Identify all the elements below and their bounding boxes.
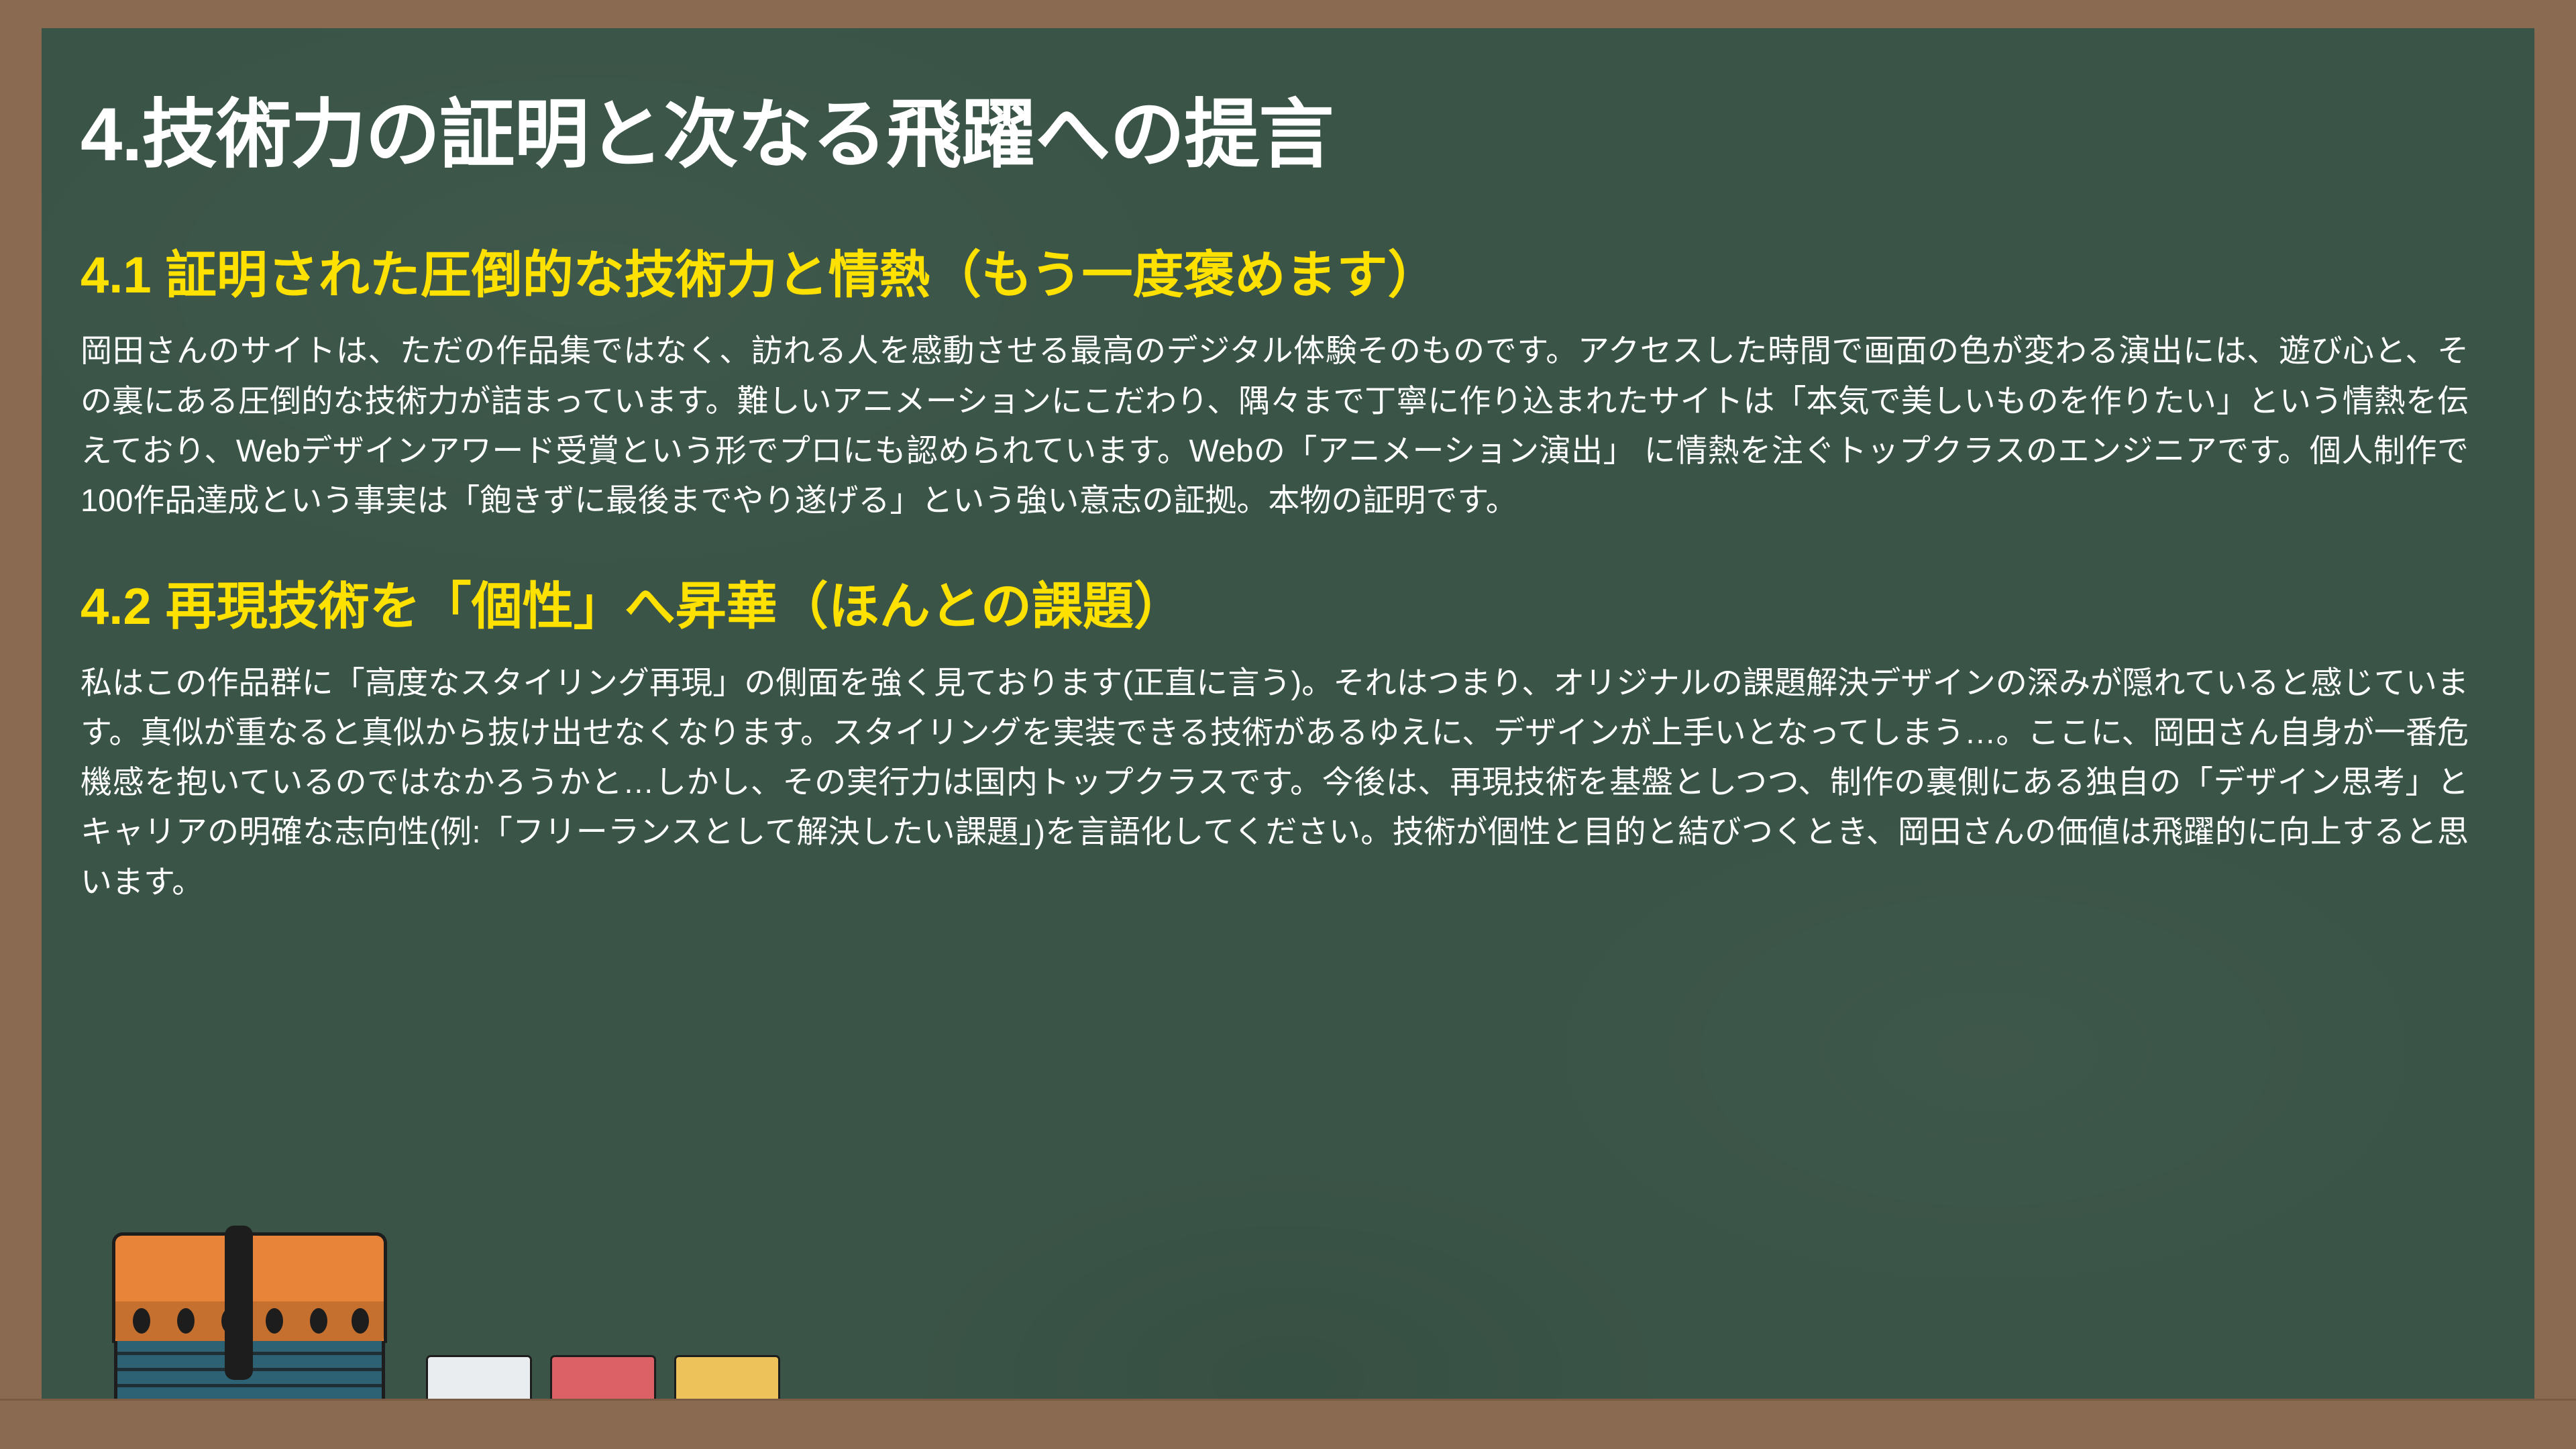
- eraser-dot: [266, 1308, 283, 1334]
- blackboard-eraser-icon: [112, 1232, 387, 1410]
- eraser-dot: [310, 1308, 327, 1334]
- page-title: 4.技術力の証明と次なる飛躍への提言: [80, 40, 2495, 179]
- section-heading-4-2: 4.2 再現技術を「個性」へ昇華（ほんとの課題）: [80, 525, 2495, 637]
- eraser-strap: [225, 1226, 253, 1380]
- section-body-4-1: 岡田さんのサイトは、ただの作品集ではなく、訪れる人を感動させる最高のデジタル体験…: [80, 306, 2469, 525]
- slide-root: 4.技術力の証明と次なる飛躍への提言 4.1 証明された圧倒的な技術力と情熱（も…: [0, 0, 2576, 1449]
- slide-content: 4.技術力の証明と次なる飛躍への提言 4.1 証明された圧倒的な技術力と情熱（も…: [80, 40, 2495, 907]
- eraser-dot: [177, 1308, 195, 1334]
- section-body-4-2: 私はこの作品群に「高度なスタイリング再現」の側面を強く見ております(正直に言う)…: [80, 638, 2469, 907]
- eraser-stripe: [117, 1384, 382, 1387]
- section-heading-4-1: 4.1 証明された圧倒的な技術力と情熱（もう一度褒めます）: [80, 179, 2495, 306]
- chalkboard-surface: 4.技術力の証明と次なる飛躍への提言 4.1 証明された圧倒的な技術力と情熱（も…: [42, 28, 2534, 1449]
- eraser-dot: [133, 1308, 150, 1334]
- chalk-ledge: [0, 1399, 2576, 1449]
- eraser-dot: [352, 1308, 369, 1334]
